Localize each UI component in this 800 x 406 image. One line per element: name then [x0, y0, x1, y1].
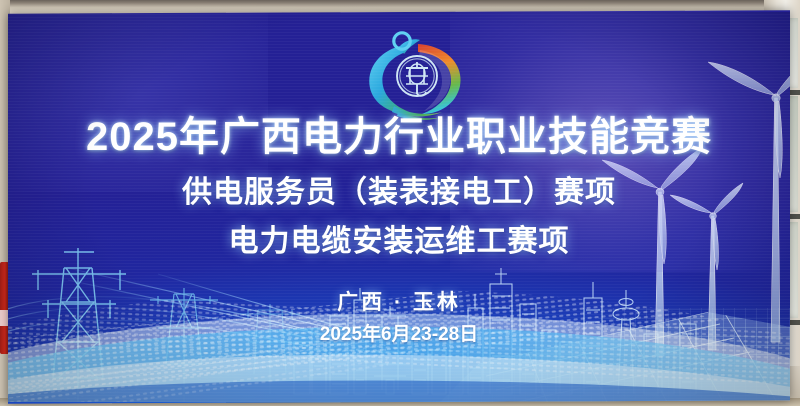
logo-figure-body: [369, 46, 416, 114]
banner-main-title: 2025年广西电力行业职业技能竞赛: [8, 116, 790, 158]
event-banner: 2025年广西电力行业职业技能竞赛 供电服务员（装表接电工）赛项 电力电缆安装运…: [8, 10, 790, 403]
competition-logo: [356, 28, 472, 120]
banner-subtitle-2: 电力电缆安装运维工赛项: [8, 216, 790, 260]
banner-subtitle-1: 供电服务员（装表接电工）赛项: [8, 167, 790, 211]
banner-location: 广西 · 玉林: [8, 286, 790, 316]
logo-emblem: [397, 56, 437, 96]
banner-date: 2025年6月23-28日: [8, 319, 790, 346]
banner-text-block: 2025年广西电力行业职业技能竞赛 供电服务员（装表接电工）赛项 电力电缆安装运…: [8, 116, 790, 346]
photograph: 2025年广西电力行业职业技能竞赛 供电服务员（装表接电工）赛项 电力电缆安装运…: [0, 0, 800, 406]
